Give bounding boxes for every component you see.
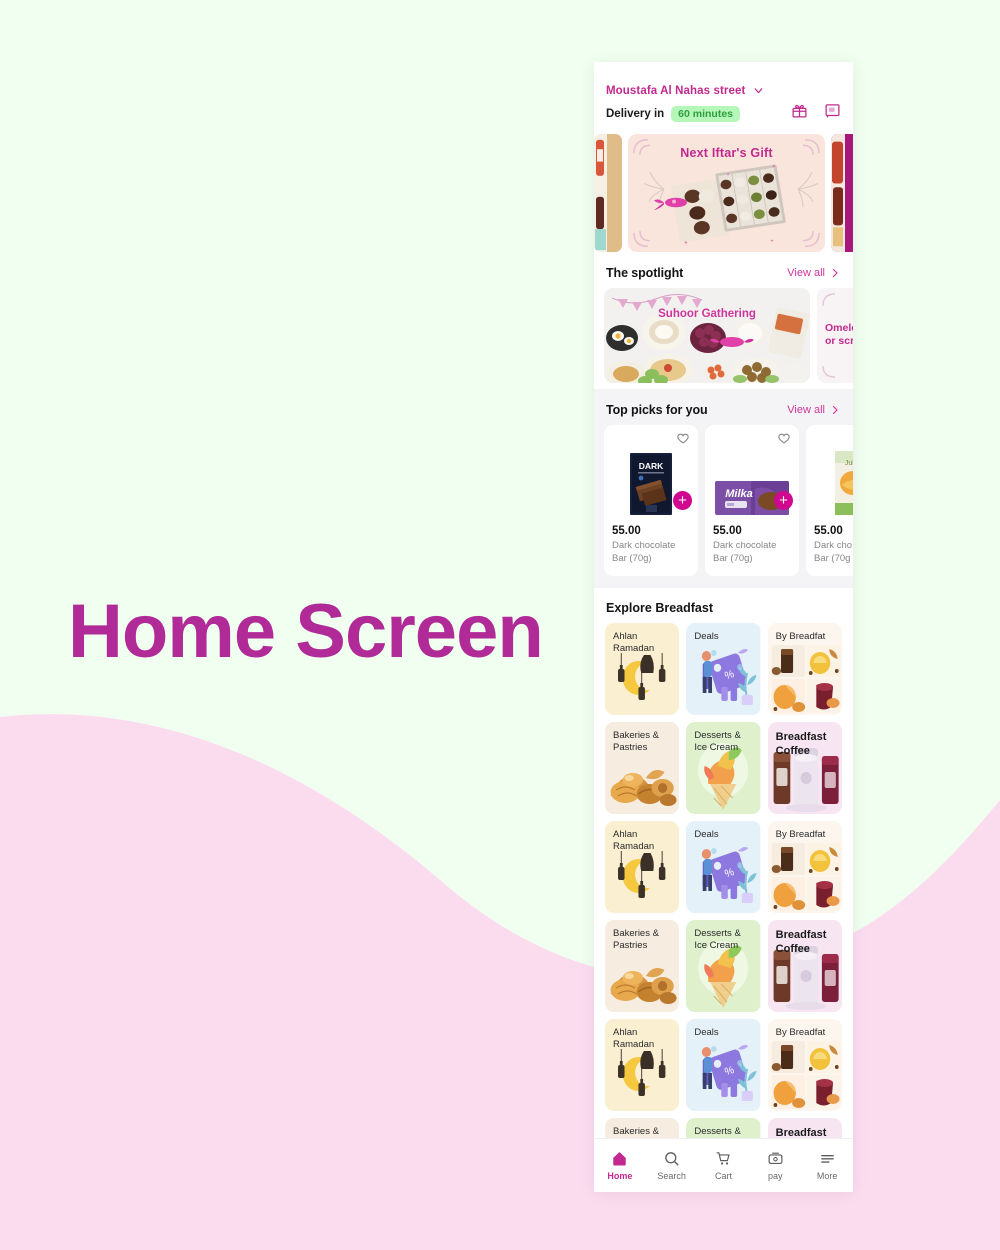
category-tile-ramadan[interactable]: Ahlan Ramadan (605, 1019, 679, 1111)
svg-text:✦: ✦ (770, 239, 774, 245)
spotlight-carousel[interactable]: Suhoor Gathering Omeleor scra (594, 288, 853, 383)
spotlight-view-all[interactable]: View all (787, 267, 841, 279)
category-tile-bybreadfast[interactable]: By Breadfat (768, 821, 842, 913)
spotlight-header: The spotlight View all (594, 252, 853, 288)
more-icon (819, 1150, 836, 1167)
spotlight-card-title: Omeleor scra (825, 322, 853, 348)
banner-next-peek[interactable] (831, 134, 853, 252)
product-name: Dark chocolate Bar (70g) (713, 540, 791, 566)
category-label: Breadfast Coffee (776, 730, 836, 760)
svg-text:Milka: Milka (725, 488, 753, 500)
category-tile-ramadan[interactable]: Ahlan Ramadan (605, 623, 679, 715)
search-icon (663, 1150, 680, 1167)
product-image: Juice (814, 447, 853, 515)
category-grid[interactable]: Ahlan Ramadan % Deals By Breadfat (594, 623, 853, 1138)
spotlight-card-title: Suhoor Gathering (604, 308, 810, 320)
category-label: Bakeries & Pastries (613, 730, 673, 756)
spotlight-view-all-label: View all (787, 267, 825, 279)
category-label: By Breadfat (776, 1027, 836, 1040)
top-picks-view-all[interactable]: View all (787, 404, 841, 416)
heart-icon[interactable] (777, 432, 791, 446)
category-tile-coffee[interactable]: Breadfast Coffee (768, 920, 842, 1012)
nav-item-more[interactable]: More (801, 1150, 853, 1181)
spotlight-title: The spotlight (606, 266, 683, 280)
svg-text:Juice: Juice (845, 460, 853, 467)
nav-label: More (817, 1171, 838, 1181)
category-label: Desserts & Ice Cream (694, 928, 754, 954)
address-label: Moustafa Al Nahas street (606, 85, 745, 97)
category-tile-desserts[interactable]: Desserts & Ice Cream (686, 1118, 760, 1138)
heart-icon[interactable] (676, 432, 690, 446)
add-to-cart-button[interactable]: + (774, 491, 793, 510)
nav-item-home[interactable]: Home (594, 1150, 646, 1181)
category-label: Bakeries & Pastries (613, 928, 673, 954)
cart-icon (715, 1150, 732, 1167)
product-price: 55.00 (814, 525, 853, 537)
top-picks-header: Top picks for you View all (594, 389, 853, 425)
category-label: Bakeries & Pastries (613, 1126, 673, 1138)
svg-text:✦: ✦ (726, 172, 730, 178)
hero-banner-card[interactable]: ✦ ✦ ✦ ✦ Next Iftar's Gift (628, 134, 825, 252)
product-card[interactable]: DARK + 55.00 Dark ch (604, 425, 698, 576)
page-title: Home Screen (68, 588, 543, 675)
spotlight-card[interactable]: Suhoor Gathering (604, 288, 810, 383)
bottom-navigation[interactable]: HomeSearchCartpayMore (594, 1138, 853, 1192)
category-tile-bybreadfast[interactable]: By Breadfat (768, 1019, 842, 1111)
hero-banner-carousel[interactable]: ✦ ✦ ✦ ✦ Next Iftar's Gift (594, 128, 853, 252)
category-tile-deals[interactable]: % Deals (686, 821, 760, 913)
chevron-right-icon (829, 404, 841, 416)
category-tile-deals[interactable]: % Deals (686, 1019, 760, 1111)
spotlight-card[interactable]: Omeleor scra (817, 288, 853, 383)
category-tile-deals[interactable]: % Deals (686, 623, 760, 715)
explore-title: Explore Breadfast (594, 588, 853, 623)
category-label: Desserts & Ice Cream (694, 1126, 754, 1138)
category-tile-ramadan[interactable]: Ahlan Ramadan (605, 821, 679, 913)
hero-banner-title: Next Iftar's Gift (628, 146, 825, 160)
svg-text:DARK: DARK (639, 461, 664, 471)
category-label: Breadfast Coffee (776, 928, 836, 958)
top-picks-section: Top picks for you View all DARK (594, 389, 853, 588)
chat-icon[interactable] (824, 102, 841, 119)
nav-label: pay (768, 1171, 783, 1181)
category-tile-desserts[interactable]: Desserts & Ice Cream (686, 722, 760, 814)
category-label: Breadfast Coffee (776, 1126, 836, 1138)
nav-label: Cart (715, 1171, 732, 1181)
chevron-right-icon (829, 267, 841, 279)
category-tile-bybreadfast[interactable]: By Breadfat (768, 623, 842, 715)
category-label: Ahlan Ramadan (613, 631, 673, 657)
pay-icon (767, 1150, 784, 1167)
svg-text:✦: ✦ (683, 240, 688, 247)
category-label: Desserts & Ice Cream (694, 730, 754, 756)
product-name: Dark chocolate Bar (70g) (612, 540, 690, 566)
gift-icon[interactable] (791, 102, 808, 119)
nav-item-pay[interactable]: pay (749, 1150, 801, 1181)
address-selector[interactable]: Moustafa Al Nahas street (606, 84, 841, 97)
nav-item-search[interactable]: Search (646, 1150, 698, 1181)
category-label: Deals (694, 631, 754, 644)
product-price: 55.00 (612, 525, 690, 537)
category-tile-bakeries[interactable]: Bakeries & Pastries (605, 722, 679, 814)
category-label: Ahlan Ramadan (613, 829, 673, 855)
top-picks-view-all-label: View all (787, 404, 825, 416)
banner-prev-peek[interactable] (594, 134, 622, 252)
category-label: Deals (694, 1027, 754, 1040)
product-name: Dark choBar (70g (814, 540, 853, 566)
nav-label: Home (607, 1171, 632, 1181)
app-scroll-area[interactable]: ✦ ✦ ✦ ✦ Next Iftar's Gift (594, 128, 853, 1138)
top-picks-title: Top picks for you (606, 403, 708, 417)
nav-label: Search (657, 1171, 686, 1181)
product-card[interactable]: Juice + 55.00 Dark choBar (70g (806, 425, 853, 576)
category-tile-coffee[interactable]: Breadfast Coffee (768, 722, 842, 814)
nav-item-cart[interactable]: Cart (698, 1150, 750, 1181)
delivery-label: Delivery in (606, 108, 664, 120)
home-icon (611, 1150, 628, 1167)
category-tile-desserts[interactable]: Desserts & Ice Cream (686, 920, 760, 1012)
product-card[interactable]: Milka + 55.00 Dark chocolate Bar (70g) (705, 425, 799, 576)
category-label: By Breadfat (776, 631, 836, 644)
category-tile-bakeries[interactable]: Bakeries & Pastries (605, 920, 679, 1012)
category-label: Deals (694, 829, 754, 842)
svg-text:✦: ✦ (771, 163, 776, 170)
category-label: Ahlan Ramadan (613, 1027, 673, 1053)
category-label: By Breadfat (776, 829, 836, 842)
category-tile-bakeries[interactable]: Bakeries & Pastries (605, 1118, 679, 1138)
app-header: Moustafa Al Nahas street Delivery in 60 … (594, 62, 853, 128)
product-price: 55.00 (713, 525, 791, 537)
add-to-cart-button[interactable]: + (673, 491, 692, 510)
category-tile-coffee[interactable]: Breadfast Coffee (768, 1118, 842, 1138)
phone-mockup: Moustafa Al Nahas street Delivery in 60 … (594, 62, 853, 1192)
chevron-down-icon[interactable] (752, 84, 765, 97)
top-picks-carousel[interactable]: DARK + 55.00 Dark ch (594, 425, 853, 576)
delivery-time-badge: 60 minutes (671, 106, 740, 122)
